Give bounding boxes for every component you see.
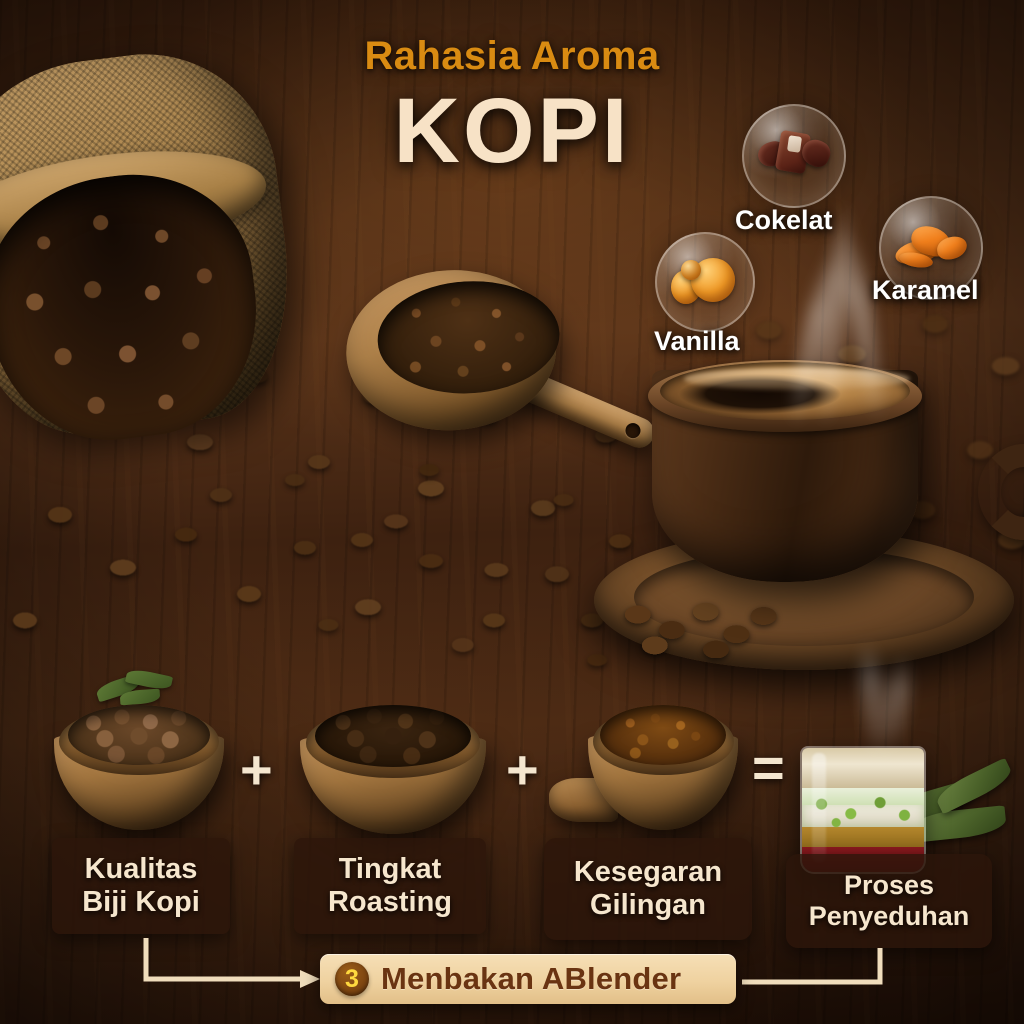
banner-label: Menbakan ABlender (381, 961, 681, 997)
caramel-icon (893, 223, 969, 273)
light-roast-beans-icon (68, 705, 211, 765)
aroma-label-vanilla: Vanilla (654, 326, 740, 357)
step-label-3-line1: Kesegaran (574, 856, 722, 889)
step-label-1-line2: Biji Kopi (82, 886, 200, 919)
poster-title: KOPI (0, 85, 1024, 179)
bottom-step-banner[interactable]: 3 Menbakan ABlender (320, 954, 736, 1004)
coffee-cup-and-saucer-icon (594, 370, 1014, 670)
ground-coffee-icon (600, 705, 726, 765)
aroma-label-cokelat: Cokelat (735, 205, 833, 236)
flow-line-right (742, 948, 880, 982)
poster-title-block: Rahasia Aroma KOPI (0, 34, 1024, 179)
operator-plus-2: + (506, 742, 539, 798)
ingredient-2-roasted-beans-bowl[interactable] (300, 700, 486, 834)
step-label-4[interactable]: Proses Penyeduhan (786, 854, 992, 948)
flow-arrowhead-left (300, 970, 320, 988)
aroma-label-karamel: Karamel (872, 275, 979, 306)
scoop-bowl (342, 265, 560, 436)
cup-handle (978, 444, 1024, 540)
ingredient-1-coffee-beans-bowl[interactable] (54, 700, 224, 830)
step-label-1-line1: Kualitas (82, 853, 200, 886)
operator-plus-1: + (240, 742, 273, 798)
step-label-4-line1: Proses (809, 870, 970, 901)
step-label-2-line1: Tingkat (328, 853, 452, 886)
step-number-badge: 3 (335, 962, 369, 996)
bowl-light-beans (54, 700, 224, 830)
step-label-2[interactable]: Tingkat Roasting (294, 838, 486, 934)
beans-on-saucer (614, 588, 784, 658)
bowl-dark-beans (300, 700, 486, 834)
cup-body (652, 370, 918, 582)
ingredient-3-ground-coffee-scoop[interactable] (588, 700, 738, 830)
scoop-ground (588, 700, 738, 830)
cup-rim (648, 360, 922, 432)
step-label-3[interactable]: Kesegaran Gilingan (544, 838, 752, 940)
brewed-coffee-surface (660, 362, 910, 420)
aroma-bubble-vanilla[interactable] (655, 232, 755, 332)
vanilla-icon (671, 256, 739, 308)
step-label-1[interactable]: Kualitas Biji Kopi (52, 838, 230, 934)
glass-highlight (812, 753, 827, 862)
step-label-4-line2: Penyeduhan (809, 901, 970, 932)
poster-canvas: Cokelat Vanilla Karamel Rahasia Aroma KO… (0, 0, 1024, 1024)
step-label-2-line2: Roasting (328, 886, 452, 919)
poster-subtitle: Rahasia Aroma (0, 34, 1024, 79)
coffee-crema (684, 368, 910, 390)
step-label-3-line2: Gilingan (574, 889, 722, 922)
flow-arrow-left (146, 938, 302, 979)
operator-equals: = (752, 740, 785, 796)
scoop-ground-coffee (375, 277, 563, 398)
dark-roast-beans-icon (315, 705, 471, 767)
